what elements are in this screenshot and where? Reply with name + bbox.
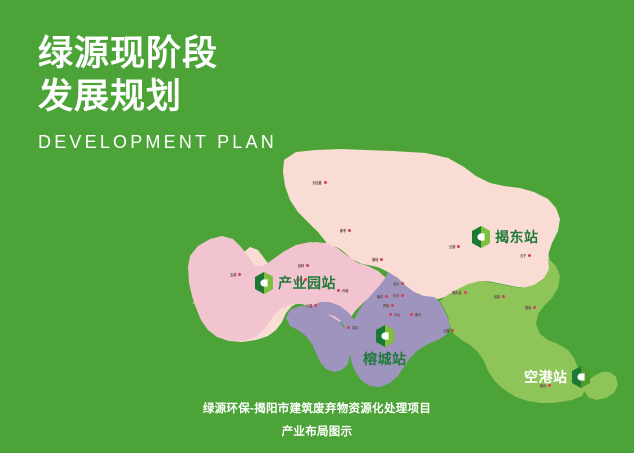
city-name: 玉湖 (230, 272, 236, 277)
city-name: 白塔 (296, 277, 302, 282)
city-dot-icon (238, 273, 241, 276)
city-marker: 桂岭 (298, 263, 309, 268)
city-name: 梅东 (377, 294, 383, 299)
lvyuan-cube-logo-icon (472, 226, 490, 248)
lvyuan-cube-logo-icon (572, 366, 590, 388)
title-line-1: 绿源现阶段 (38, 33, 277, 76)
city-name: 云湖 (449, 244, 455, 249)
poster-caption: 绿源环保-揭阳市建筑废弃物资源化处理项目 产业布局图示 (0, 400, 634, 439)
city-marker: 云湖 (449, 244, 460, 249)
city-dot-icon (528, 254, 531, 257)
city-marker: 桂岗 (494, 294, 505, 299)
city-dot-icon (304, 278, 307, 281)
city-dot-icon (548, 384, 551, 387)
city-marker: 新兴 (410, 312, 421, 317)
city-dot-icon (457, 245, 460, 248)
city-marker: 揭东县 (452, 290, 467, 295)
city-dot-icon (348, 229, 351, 232)
city-name: 桂岭 (298, 263, 304, 268)
station-label-jiedong[interactable]: 揭东站 (472, 226, 539, 248)
station-label-rongcheng[interactable]: 榕城站 (363, 325, 407, 369)
city-marker: 新亨 (340, 228, 351, 233)
city-name: 揭东县 (452, 290, 462, 295)
city-marker: 云路 (443, 328, 454, 333)
city-name: 锡场 (372, 257, 378, 262)
lvyuan-cube-logo-icon (376, 325, 394, 347)
development-plan-poster: 绿源现阶段 发展规划 DEVELOPMENT PLAN 揭东站 产业园站 榕城站 (0, 0, 634, 453)
city-name: 新兴 (415, 312, 421, 317)
city-dot-icon (324, 181, 327, 184)
city-marker: 东兴 (393, 293, 404, 298)
city-name: 丹城 (342, 288, 348, 293)
city-marker: 龙山 (393, 281, 404, 286)
city-marker: 丹城 (337, 288, 348, 293)
city-name: 桂岗 (494, 294, 500, 299)
city-marker: 五宁 (520, 253, 531, 258)
city-marker: 梅东 (377, 294, 388, 299)
city-marker: 炮台 (540, 383, 551, 388)
city-dot-icon (306, 264, 309, 267)
city-dot-icon (401, 282, 404, 285)
lvyuan-cube-logo-icon (255, 272, 273, 294)
city-marker: 中山 (389, 312, 400, 317)
city-marker: 西岐 (383, 303, 394, 308)
city-marker: 凤东 (347, 325, 358, 330)
city-dot-icon (380, 258, 383, 261)
title-line-2: 发展规划 (38, 76, 277, 119)
city-name: 五宁 (520, 253, 526, 258)
city-dot-icon (502, 295, 505, 298)
city-name: 五经富 (312, 180, 322, 185)
station-label-airport[interactable]: 空港站 (524, 366, 590, 388)
station-label-industrial-park[interactable]: 产业园站 (255, 272, 336, 294)
city-dot-icon (347, 326, 350, 329)
city-name: 中山 (394, 312, 400, 317)
city-name: 炮台 (540, 383, 546, 388)
city-dot-icon (451, 329, 454, 332)
city-name: 西岐 (383, 303, 389, 308)
city-marker: 白塔 (296, 277, 307, 282)
station-name-industrial-park: 产业园站 (278, 273, 336, 293)
city-dot-icon (389, 313, 392, 316)
city-dot-icon (391, 304, 394, 307)
city-dot-icon (314, 304, 317, 307)
city-name: 新亨 (340, 228, 346, 233)
city-dot-icon (410, 313, 413, 316)
city-name: 云落 (306, 303, 312, 308)
city-dot-icon (533, 306, 536, 309)
city-dot-icon (337, 289, 340, 292)
city-marker: 云落 (306, 303, 317, 308)
station-name-jiedong: 揭东站 (495, 227, 539, 247)
city-marker: 登岗 (525, 305, 536, 310)
poster-title-block: 绿源现阶段 发展规划 DEVELOPMENT PLAN (38, 33, 277, 153)
city-dot-icon (464, 291, 467, 294)
city-marker: 锡场 (372, 257, 383, 262)
caption-line-1: 绿源环保-揭阳市建筑废弃物资源化处理项目 (0, 400, 634, 416)
poster-subtitle: DEVELOPMENT PLAN (38, 132, 277, 153)
city-marker: 五经富 (312, 180, 327, 185)
city-name: 登岗 (525, 305, 531, 310)
city-name: 云路 (443, 328, 449, 333)
city-dot-icon (385, 295, 388, 298)
city-dot-icon (401, 294, 404, 297)
city-marker: 玉湖 (230, 272, 241, 277)
city-name: 东兴 (393, 293, 399, 298)
station-name-rongcheng: 榕城站 (363, 349, 407, 369)
city-name: 龙山 (393, 281, 399, 286)
city-name: 凤东 (352, 325, 358, 330)
caption-line-2: 产业布局图示 (0, 423, 634, 439)
